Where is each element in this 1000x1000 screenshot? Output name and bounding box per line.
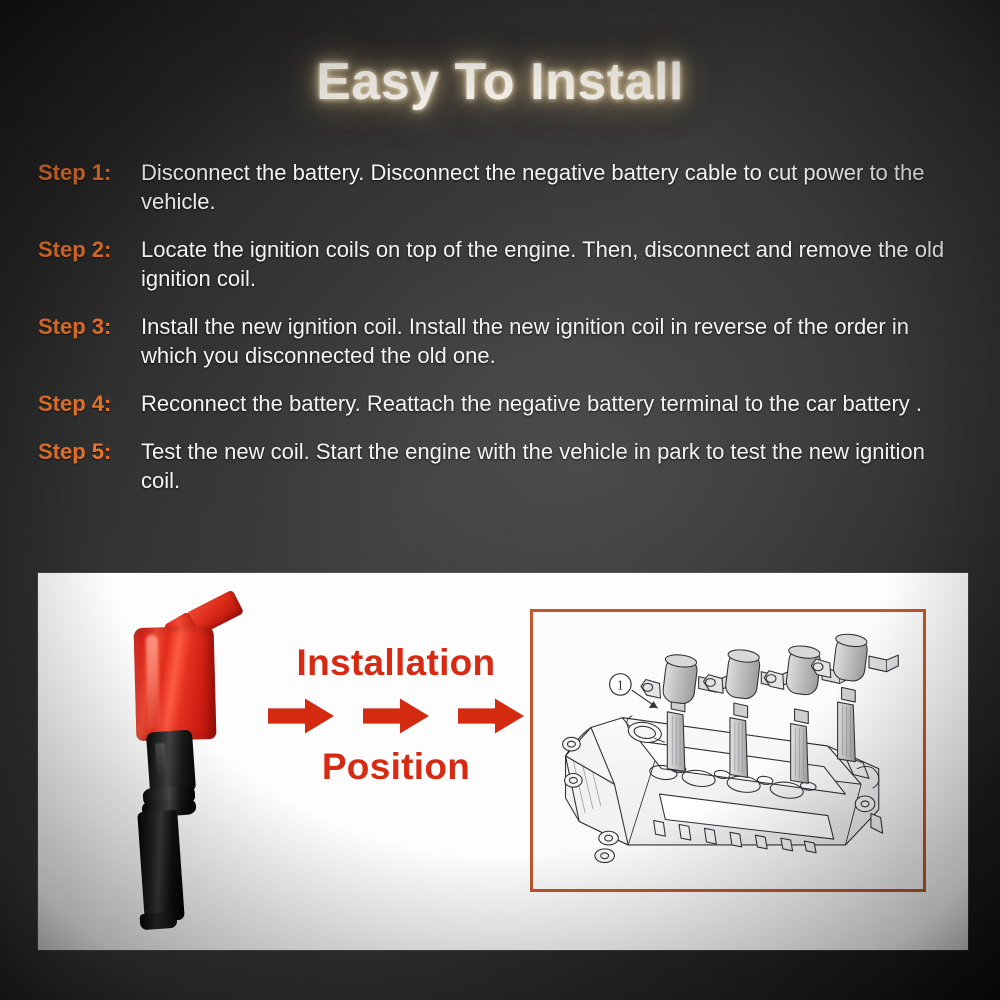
list-item: Step 2: Locate the ignition coils on top…: [38, 235, 968, 293]
steps-list: Step 1: Disconnect the battery. Disconne…: [38, 158, 968, 514]
arrow-row: [268, 697, 524, 735]
coil-boot-top-icon: [146, 729, 196, 794]
installation-label: Installation: [266, 641, 526, 685]
position-label: Position: [266, 745, 526, 789]
step-text: Reconnect the battery. Reattach the nega…: [141, 389, 968, 418]
list-item: Step 4: Reconnect the battery. Reattach …: [38, 389, 968, 418]
step-label: Step 3:: [38, 312, 141, 341]
list-item: Step 3: Install the new ignition coil. I…: [38, 312, 968, 370]
ignition-coil-product-image: [93, 591, 293, 936]
arrow-right-icon: [268, 697, 334, 735]
coil-boot-lower-icon: [137, 810, 185, 923]
engine-diagram-box: 1: [530, 609, 926, 892]
install-instructions-page: Easy To Install Step 1: Disconnect the b…: [0, 0, 1000, 1000]
page-title: Easy To Install: [0, 52, 1000, 112]
callout-number: 1: [617, 677, 624, 692]
arrow-right-icon: [458, 697, 524, 735]
step-label: Step 4:: [38, 389, 141, 418]
step-label: Step 2:: [38, 235, 141, 264]
engine-valve-cover-diagram: 1: [533, 612, 923, 889]
step-text: Test the new coil. Start the engine with…: [141, 437, 968, 495]
step-text: Disconnect the battery. Disconnect the n…: [141, 158, 968, 216]
step-text: Install the new ignition coil. Install t…: [141, 312, 968, 370]
list-item: Step 1: Disconnect the battery. Disconne…: [38, 158, 968, 216]
coil-highlight-icon: [146, 635, 161, 731]
step-label: Step 5:: [38, 437, 141, 466]
list-item: Step 5: Test the new coil. Start the eng…: [38, 437, 968, 495]
step-label: Step 1:: [38, 158, 141, 187]
arrow-right-icon: [363, 697, 429, 735]
step-text: Locate the ignition coils on top of the …: [141, 235, 968, 293]
illustration-panel: Installation Position: [38, 573, 968, 950]
coil-boot-tip-icon: [139, 912, 177, 931]
installation-flow: Installation Position: [266, 641, 526, 789]
